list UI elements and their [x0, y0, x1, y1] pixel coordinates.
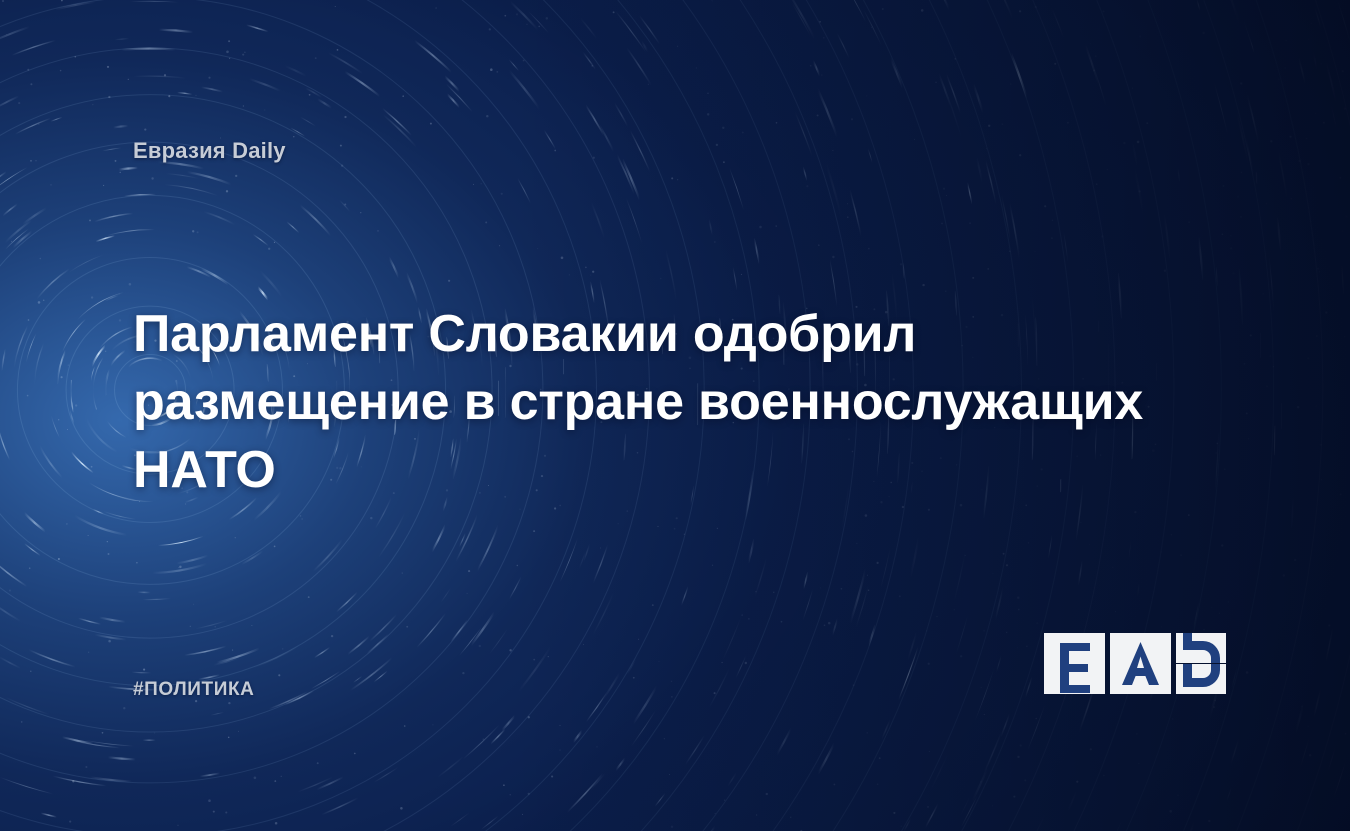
site-brand-name[interactable]: Евразия Daily [133, 138, 286, 164]
card-content: Евразия Daily Парламент Словакии одобрил… [0, 0, 1350, 831]
category-tag-politika[interactable]: #ПОЛИТИКА [133, 679, 255, 701]
news-share-card: Евразия Daily Парламент Словакии одобрил… [0, 0, 1350, 831]
logo-tile-a [1110, 633, 1171, 694]
article-headline: Парламент Словакии одобрил размещение в … [133, 300, 1213, 504]
logo-tile-d-bottom [1176, 664, 1226, 694]
logo-tile-d-top [1176, 633, 1226, 663]
logo-tile-e [1044, 633, 1105, 694]
ead-logo[interactable] [1044, 633, 1226, 695]
